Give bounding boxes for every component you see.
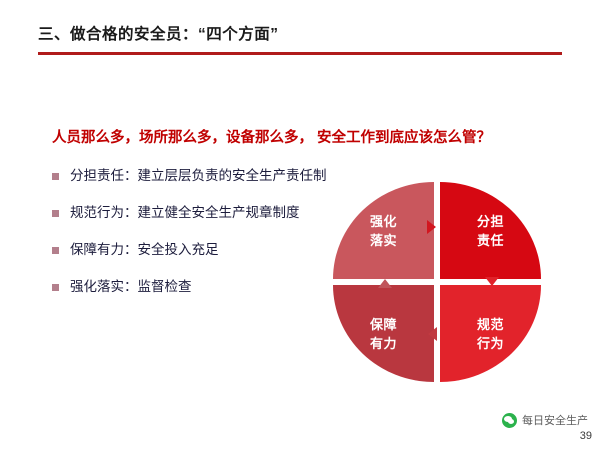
cycle-diagram: 强化落实 分担责任 保障有力 规范行为 [333, 182, 541, 382]
bullet-item-key: 强化落实 [70, 279, 124, 294]
diagram-quadrant-bottom-right: 规范行为 [440, 285, 541, 382]
diagram-quadrant-bottom-left: 保障有力 [333, 285, 434, 382]
watermark-text: 每日安全生产 [522, 412, 588, 428]
arrow-down-icon [485, 277, 499, 286]
footer: 每日安全生产 39 [0, 412, 600, 450]
bullet-item-label: 强化落实：监督检查 [70, 277, 192, 297]
bullet-item-separator: ： [124, 279, 138, 294]
arrow-right-icon [427, 220, 436, 234]
bullet-item-separator: ： [124, 168, 138, 183]
bullet-item-key: 保障有力 [70, 242, 124, 257]
bullet-item-separator: ： [124, 205, 138, 220]
bullet-item-text: 安全投入充足 [138, 242, 219, 257]
title-divider [38, 52, 562, 55]
bullet-item-label: 分担责任：建立层层负责的安全生产责任制 [70, 166, 327, 186]
bullet-item-label: 保障有力：安全投入充足 [70, 240, 219, 260]
square-bullet-icon [52, 210, 59, 217]
diagram-quadrant-top-right: 分担责任 [440, 182, 541, 279]
diagram-quadrant-label: 保障有力 [369, 315, 398, 353]
bullet-item-text: 建立层层负责的安全生产责任制 [138, 168, 327, 183]
square-bullet-icon [52, 173, 59, 180]
arrow-up-icon [378, 279, 392, 288]
page-title: 三、做合格的安全员：“四个方面” [38, 22, 279, 44]
square-bullet-icon [52, 247, 59, 254]
diagram-quadrant-top-left: 强化落实 [333, 182, 434, 279]
bullet-item-label: 规范行为：建立健全安全生产规章制度 [70, 203, 300, 223]
bullet-item-text: 监督检查 [138, 279, 192, 294]
lead-question: 人员那么多，场所那么多，设备那么多， 安全工作到底应该怎么管？ [52, 126, 491, 147]
square-bullet-icon [52, 284, 59, 291]
diagram-quadrant-label: 强化落实 [369, 212, 398, 250]
bullet-item-text: 建立健全安全生产规章制度 [138, 205, 300, 220]
page-number: 39 [580, 430, 592, 442]
bullet-item-key: 分担责任 [70, 168, 124, 183]
bullet-item-separator: ： [124, 242, 138, 257]
diagram-quadrant-label: 规范行为 [476, 315, 505, 353]
arrow-left-icon [428, 327, 437, 341]
slide: 三、做合格的安全员：“四个方面” 人员那么多，场所那么多，设备那么多， 安全工作… [0, 0, 600, 450]
diagram-quadrant-label: 分担责任 [476, 212, 505, 250]
bullet-item-key: 规范行为 [70, 205, 124, 220]
watermark: 每日安全生产 [502, 412, 588, 428]
wechat-icon [502, 413, 517, 428]
